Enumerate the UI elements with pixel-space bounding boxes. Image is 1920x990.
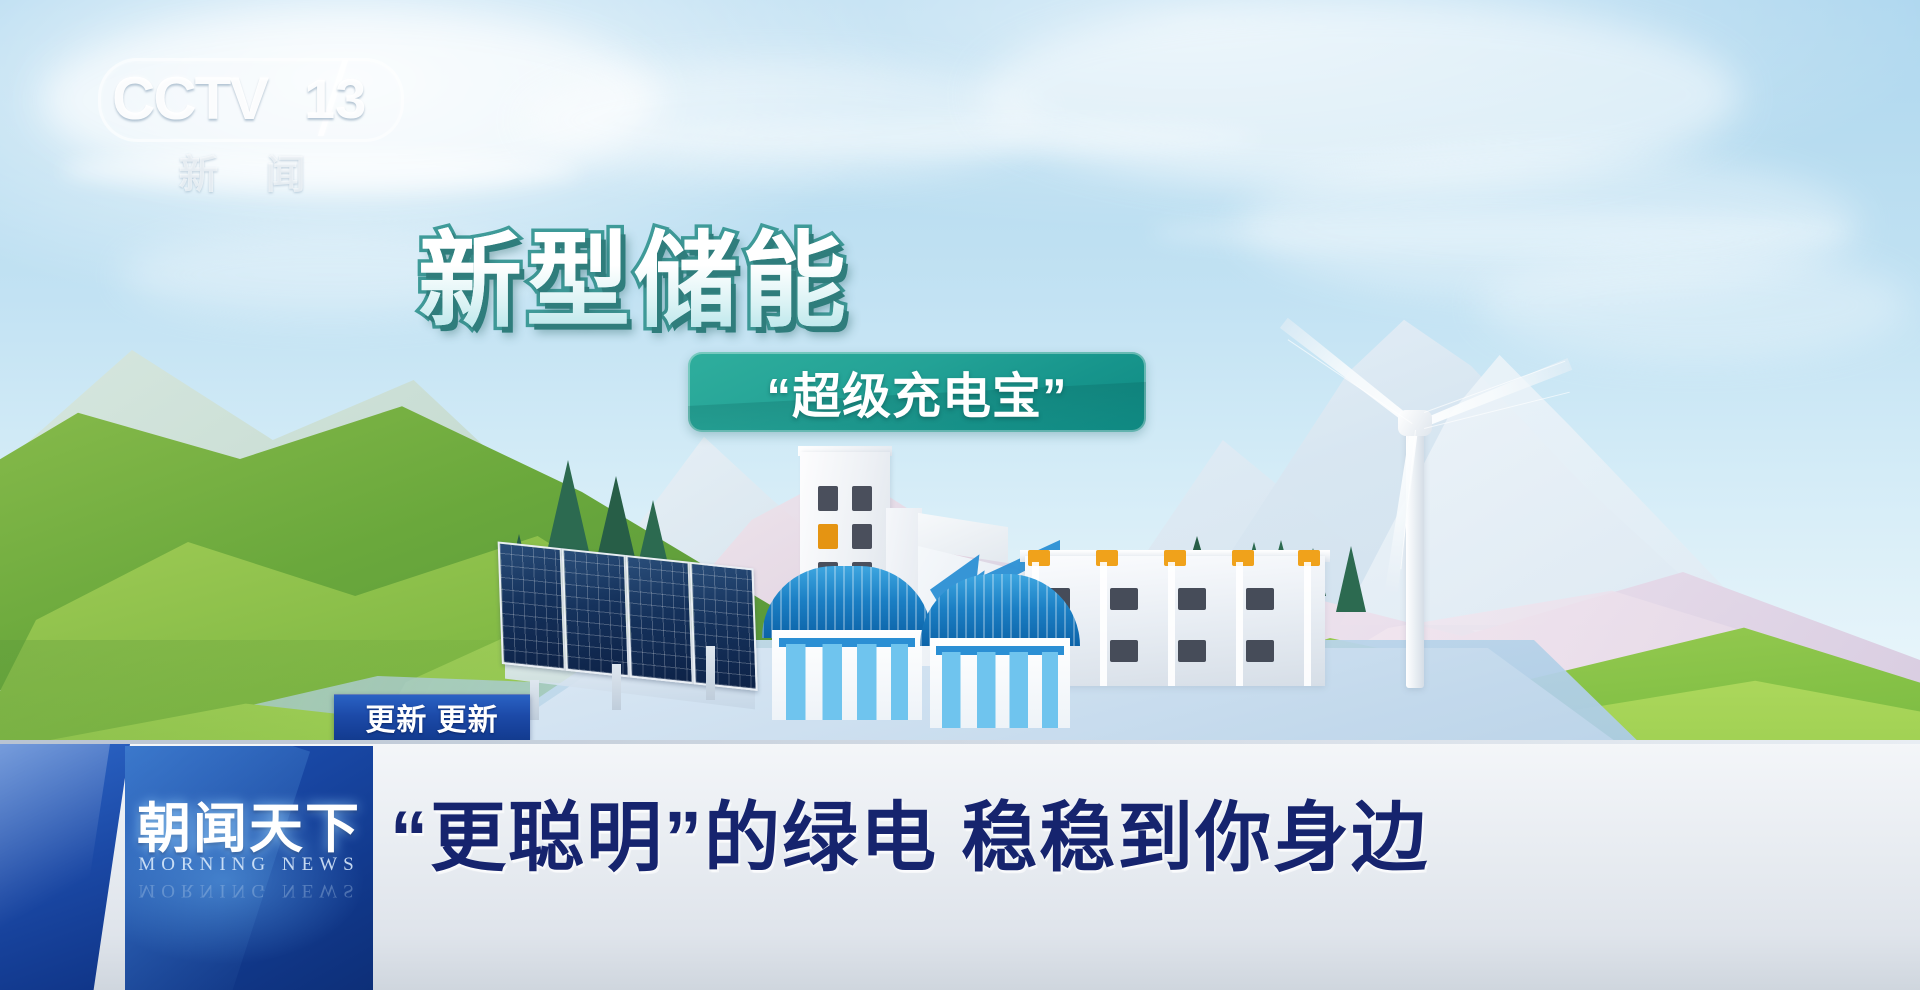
solar-panel [690,562,758,691]
logo-channel-number: 13 [304,66,366,131]
solar-support-leg [706,646,715,700]
solar-panel [626,555,694,684]
logo-cctv-text: CCTV [112,64,267,133]
solar-panel [562,548,630,677]
logo-subtitle: 新 闻 [146,142,356,200]
solar-support-leg [530,680,539,720]
broadcast-frame: CCTV 13 新 闻 新型储能 新型储能 “超级充电宝” 更新 更新 朝闻天下… [0,0,1920,990]
program-name-en: MORNING NEWS [125,854,373,876]
cctv-channel-logo: CCTV 13 新 闻 [98,58,398,178]
hall-door-bars [942,652,1057,728]
warehouse-pillar [1100,562,1107,686]
wind-turbine-blade-edge [1424,361,1565,413]
battery-storage-hall [920,574,1080,726]
program-logo: 朝闻天下 MORNING NEWS MORNING NEWS [125,746,373,990]
warehouse-window [1178,640,1206,662]
tower-window [852,486,872,511]
program-name-en-reflection: MORNING NEWS [125,879,373,901]
warehouse-pillar [1304,562,1311,686]
tower-window [818,486,838,511]
tower-window-lit [818,524,838,549]
lower-third-top-edge [0,740,1920,744]
tower-window [852,524,872,549]
solar-panel [498,541,566,670]
topic-tag-label: 更新 更新 [334,694,530,740]
hall-door-bars [786,644,908,720]
arched-roof [762,566,932,638]
warehouse-window [1178,588,1206,610]
arched-roof [920,574,1080,646]
solar-support-leg [612,664,621,710]
subtitle-banner-label: “超级充电宝” [688,352,1146,432]
main-title: 新型储能 [418,196,850,347]
warehouse-window [1110,640,1138,662]
warehouse-window [1110,588,1138,610]
wind-turbine-blade-edge [1288,339,1413,424]
warehouse-pillar [1168,562,1175,686]
battery-storage-hall [762,566,932,724]
news-headline: “更聪明”的绿电 稳稳到你身边 [390,746,1870,916]
wind-turbine-blade [1410,358,1572,434]
program-name-cn: 朝闻天下 [125,784,373,863]
warehouse-window [1246,588,1274,610]
warehouse-pillar [1236,562,1243,686]
warehouse-window [1246,640,1274,662]
